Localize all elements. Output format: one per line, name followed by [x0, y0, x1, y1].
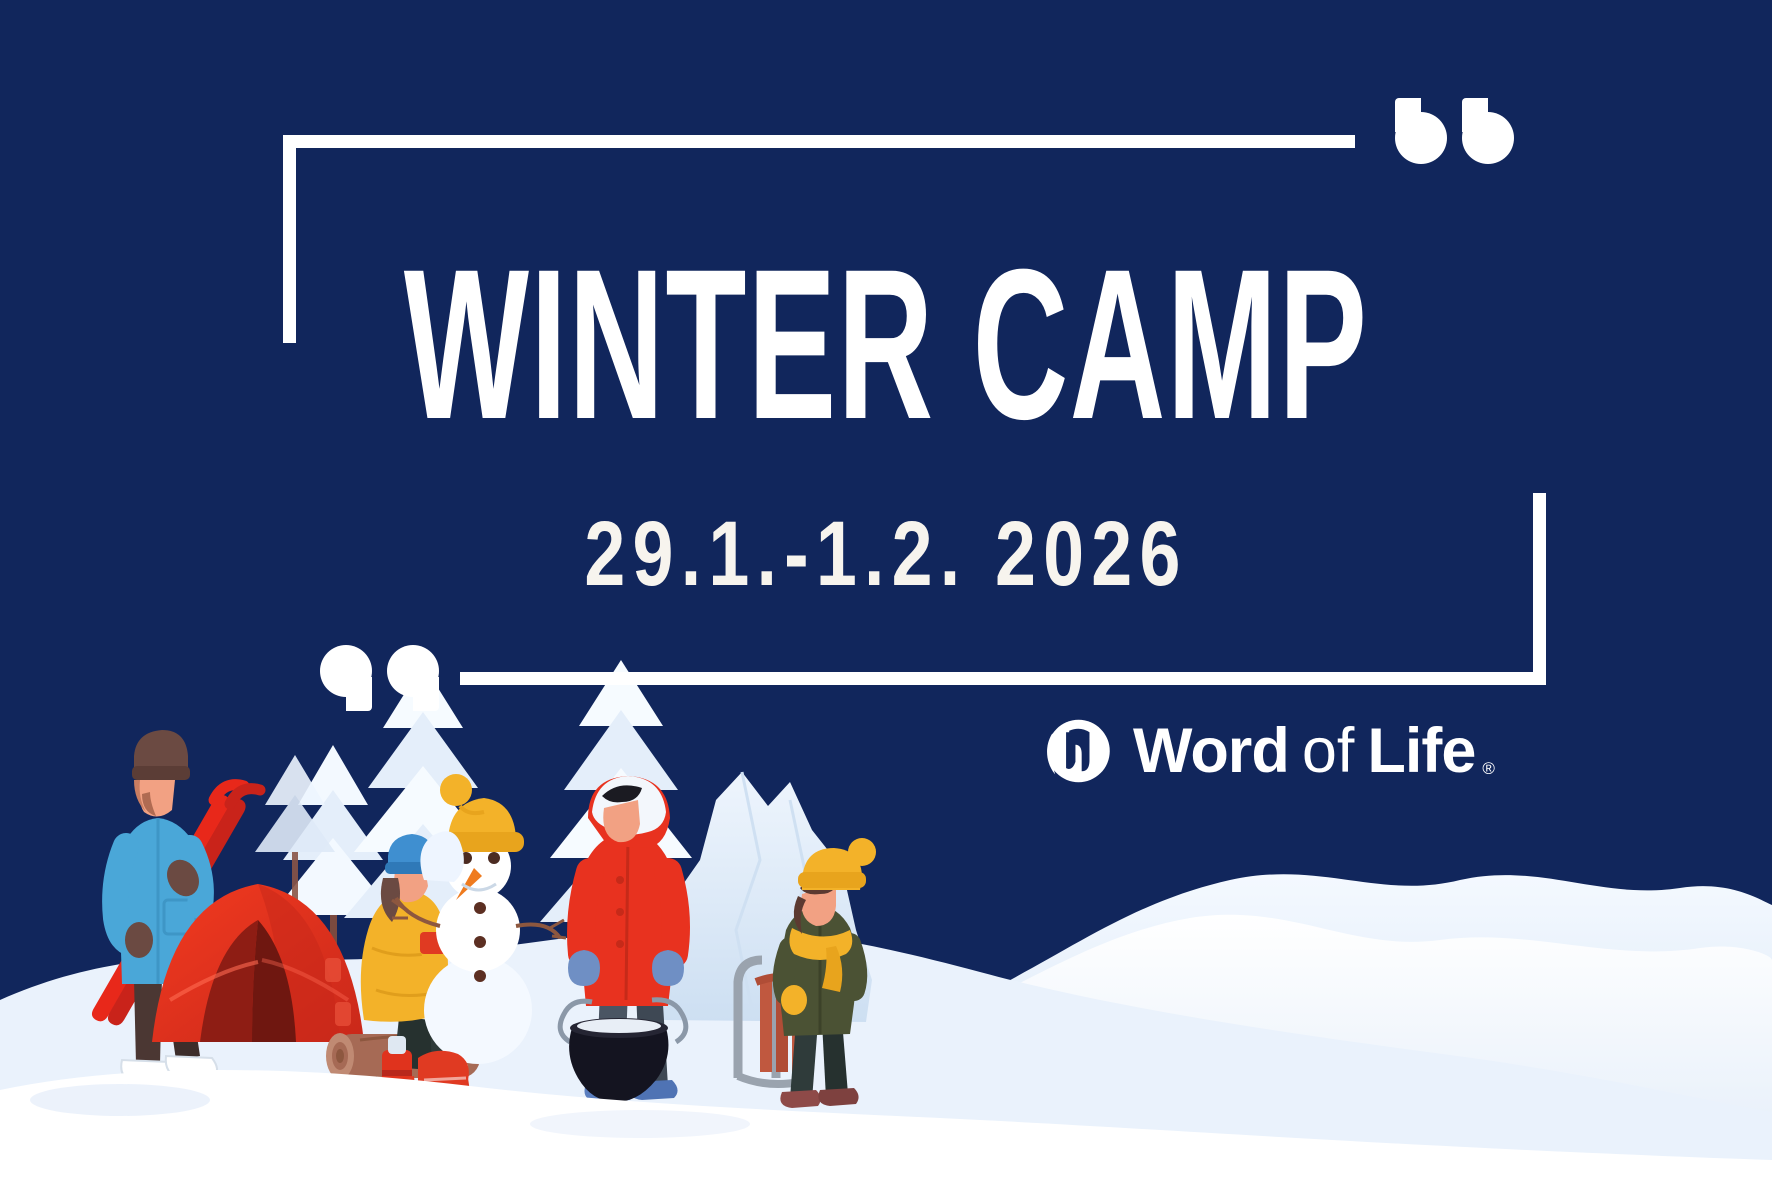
frame-bracket-top-horizontal — [283, 135, 1355, 148]
word-of-life-monogram-icon — [1038, 712, 1116, 790]
logo-word-2: of — [1302, 720, 1355, 783]
frame-bracket-bottom-horizontal — [460, 672, 1546, 685]
winter-camp-poster: WINTER CAMP 29.1.-1.2. 2026 Word of Life… — [0, 0, 1772, 1181]
quote-glyph-close-1 — [1395, 98, 1447, 164]
quote-glyph-open-1 — [320, 645, 372, 711]
registered-trademark-icon: ® — [1482, 760, 1495, 777]
event-date-range: 29.1.-1.2. 2026 — [177, 508, 1595, 600]
logo-word-3: Life — [1367, 720, 1475, 783]
quote-mark-top-right — [1395, 98, 1514, 164]
frame-bracket-top-vertical — [283, 135, 296, 343]
word-of-life-logo: Word of Life ® — [1038, 712, 1495, 790]
logo-word-1: Word — [1133, 720, 1289, 783]
logo-wordmark: Word of Life ® — [1133, 720, 1495, 783]
quote-mark-bottom-left — [320, 645, 439, 711]
quote-glyph-open-2 — [387, 645, 439, 711]
quote-glyph-close-2 — [1462, 98, 1514, 164]
page-title: WINTER CAMP — [337, 238, 1436, 452]
